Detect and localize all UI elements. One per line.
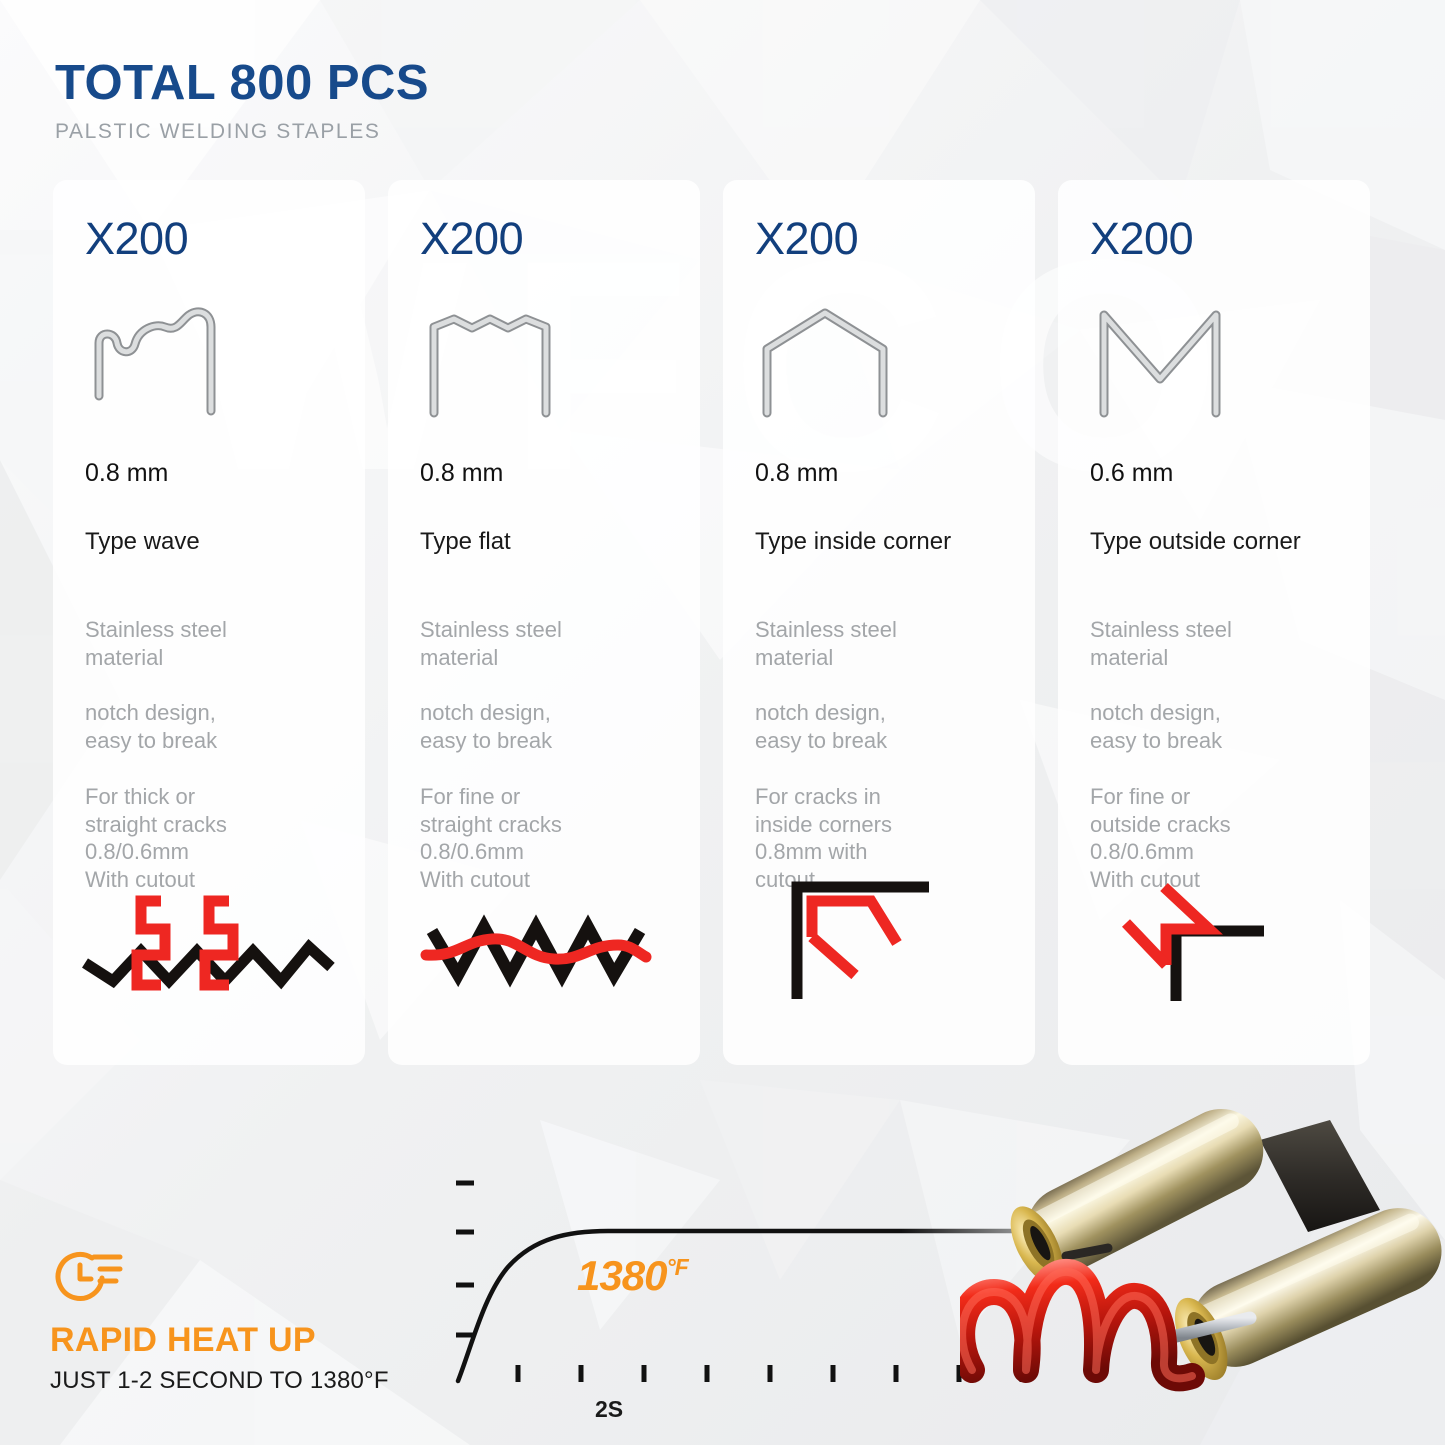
card-notes: Stainless steel material notch design, e… xyxy=(1090,616,1340,894)
rapid-heat-block: RAPID HEAT UP JUST 1-2 SECOND TO 1380°F xyxy=(50,1248,470,1395)
card-note: Stainless steel material xyxy=(85,616,335,671)
rapid-heat-title: RAPID HEAT UP xyxy=(50,1323,470,1357)
chart-x-ticks xyxy=(518,1365,1022,1382)
chart-y-ticks xyxy=(456,1183,474,1335)
card-type: Type outside corner xyxy=(1090,528,1340,556)
vee-staple-icon xyxy=(1090,301,1340,441)
card-notes: Stainless steel material notch design, e… xyxy=(755,616,1005,894)
card-type: Type wave xyxy=(85,528,335,556)
header: TOTAL 800 PCS PALSTIC WELDING STAPLES xyxy=(55,58,429,144)
product-card-outside-corner: X200 0.6 mm Type outside corner Stainles… xyxy=(1058,180,1370,1065)
heated-tip-with-red-hot-wave-staple-photo xyxy=(960,1080,1445,1445)
fast-clock-icon xyxy=(50,1248,470,1313)
page-title: TOTAL 800 PCS xyxy=(55,58,429,109)
page-subtitle: PALSTIC WELDING STAPLES xyxy=(55,120,429,144)
card-note: notch design, easy to break xyxy=(420,699,670,754)
card-note: notch design, easy to break xyxy=(1090,699,1340,754)
card-note: For fine or straight cracks 0.8/0.6mm Wi… xyxy=(420,783,670,894)
card-code: X200 xyxy=(85,216,335,261)
inside-corner-crack-icon xyxy=(723,875,1035,1005)
zigzag-crack-with-wavy-line-icon xyxy=(388,885,700,1005)
chart-gridlines-vertical xyxy=(518,1103,1022,1380)
card-note: For thick or straight cracks 0.8/0.6mm W… xyxy=(85,783,335,894)
card-note: Stainless steel material xyxy=(1090,616,1340,671)
outside-corner-crack-icon xyxy=(1058,875,1370,1005)
card-type: Type inside corner xyxy=(755,528,1005,556)
card-notes: Stainless steel material notch design, e… xyxy=(420,616,670,894)
product-card-flat: X200 0.8 mm Type flat Stainless steel ma… xyxy=(388,180,700,1065)
rapid-heat-subtitle: JUST 1-2 SECOND TO 1380°F xyxy=(50,1367,470,1395)
wave-staple-icon xyxy=(85,301,335,441)
card-type: Type flat xyxy=(420,528,670,556)
product-card-list: X200 0.8 mm Type wave Stainless steel ma… xyxy=(53,180,1393,1065)
product-card-inside-corner: X200 0.8 mm Type inside corner Stainless… xyxy=(723,180,1035,1065)
card-thickness: 0.6 mm xyxy=(1090,459,1340,488)
card-notes: Stainless steel material notch design, e… xyxy=(85,616,335,894)
card-code: X200 xyxy=(755,216,1005,261)
peak-staple-icon xyxy=(755,301,1005,441)
card-thickness: 0.8 mm xyxy=(755,459,1005,488)
card-thickness: 0.8 mm xyxy=(85,459,335,488)
card-note: Stainless steel material xyxy=(755,616,1005,671)
chart-temp-unit: °F xyxy=(666,1254,687,1280)
chart-x-axis-label: 2S xyxy=(595,1396,623,1423)
product-card-wave: X200 0.8 mm Type wave Stainless steel ma… xyxy=(53,180,365,1065)
flat-staple-icon xyxy=(420,301,670,441)
chart-temp-value: 1380 xyxy=(577,1252,666,1299)
card-thickness: 0.8 mm xyxy=(420,459,670,488)
chart-temperature-annotation: 1380°F xyxy=(577,1252,688,1300)
card-note: Stainless steel material xyxy=(420,616,670,671)
card-note: notch design, easy to break xyxy=(85,699,335,754)
card-code: X200 xyxy=(1090,216,1340,261)
infographic-page: WFCO TOTAL 800 PCS PALSTIC WELDING STAPL… xyxy=(0,0,1445,1445)
zigzag-crack-with-wave-staples-icon xyxy=(53,885,365,1005)
card-code: X200 xyxy=(420,216,670,261)
card-note: notch design, easy to break xyxy=(755,699,1005,754)
